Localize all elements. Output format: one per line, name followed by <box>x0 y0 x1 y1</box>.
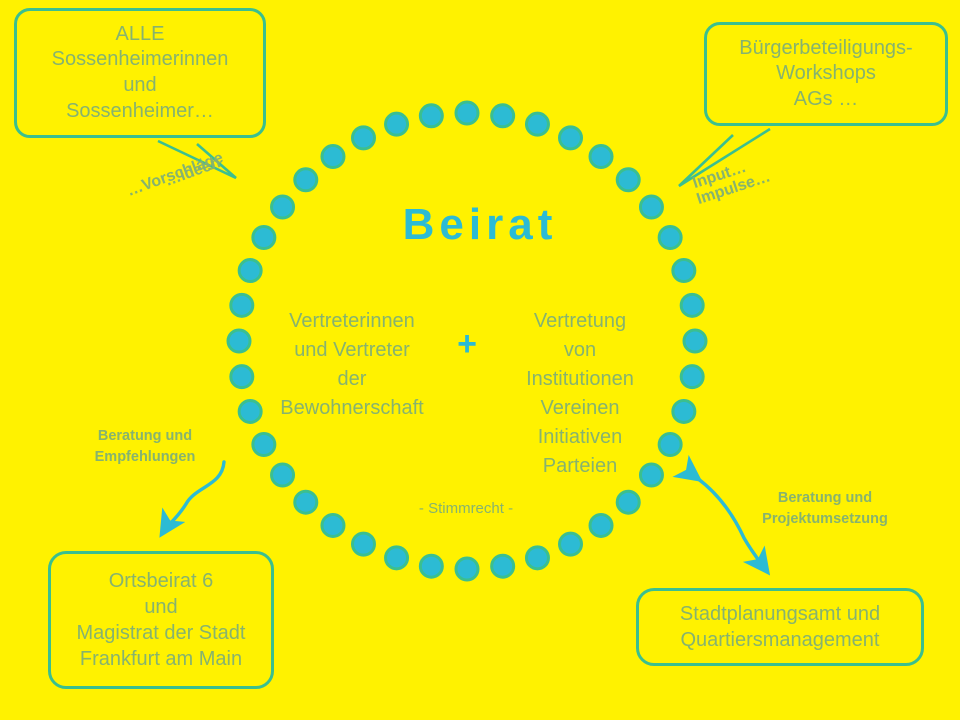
arrow-label-beratung-projekt: Beratung und Projektumsetzung <box>745 488 905 530</box>
ring-dot <box>386 113 408 135</box>
arrow-label-beratung-projekt-line-2: Projektumsetzung <box>745 509 905 530</box>
column-institutions-line-5: Initiativen <box>490 423 670 452</box>
ring-dot <box>617 491 639 513</box>
ring-dot <box>492 105 514 127</box>
bubble-residents-line-3: und <box>123 73 156 99</box>
ring-dot <box>295 491 317 513</box>
box-ortsbeirat-line-1: Ortsbeirat 6 <box>109 568 213 594</box>
arrow-label-beratung-empfehlungen-line-2: Empfehlungen <box>80 447 210 468</box>
ring-dot <box>420 105 442 127</box>
ring-dot <box>590 514 612 536</box>
ring-dot <box>352 533 374 555</box>
ring-dot <box>681 294 703 316</box>
ring-dot <box>681 366 703 388</box>
ring-dot <box>322 146 344 168</box>
box-ortsbeirat[interactable]: Ortsbeirat 6 und Magistrat der Stadt Fra… <box>48 551 274 689</box>
ring-dot <box>526 547 548 569</box>
ring-dot <box>420 555 442 577</box>
column-institutions-line-2: von <box>490 336 670 365</box>
column-institutions-line-1: Vertretung <box>490 307 670 336</box>
ring-dot <box>684 330 706 352</box>
column-representatives-line-4: Bewohnerschaft <box>262 394 442 423</box>
column-institutions-line-4: Vereinen <box>490 394 670 423</box>
column-institutions-line-3: Institutionen <box>490 365 670 394</box>
arrow-label-beratung-empfehlungen-line-1: Beratung und <box>80 426 210 447</box>
bubble-residents-line-2: Sossenheimerinnen <box>52 47 229 73</box>
ring-dot <box>239 260 261 282</box>
column-representatives: Vertreterinnen und Vertreter der Bewohne… <box>262 307 442 423</box>
ring-dot <box>617 169 639 191</box>
speech-bubble-residents[interactable]: ALLE Sossenheimerinnen und Sossenheimer… <box>14 8 266 138</box>
ring-dot <box>272 464 294 486</box>
ring-dot <box>253 434 275 456</box>
box-stadtplanung-line-2: Quartiersmanagement <box>681 627 880 653</box>
arrow-label-beratung-projekt-line-1: Beratung und <box>745 488 905 509</box>
ring-dot <box>456 558 478 580</box>
bubble-residents-line-4: Sossenheimer… <box>66 99 214 125</box>
arrow-beratung-empfehlungen <box>163 462 224 532</box>
box-ortsbeirat-line-2: und <box>144 594 177 620</box>
column-institutions: Vertretung von Institutionen Vereinen In… <box>490 307 670 481</box>
column-representatives-line-1: Vertreterinnen <box>262 307 442 336</box>
box-ortsbeirat-line-3: Magistrat der Stadt <box>77 620 246 646</box>
ring-dot <box>673 260 695 282</box>
diagram-canvas: ALLE Sossenheimerinnen und Sossenheimer…… <box>0 0 960 720</box>
plus-icon: + <box>443 327 491 361</box>
ring-dot <box>228 330 250 352</box>
bubble-workshops-line-2: Workshops <box>776 61 876 87</box>
box-stadtplanung-line-1: Stadtplanungsamt und <box>680 601 880 627</box>
ring-dot <box>231 366 253 388</box>
box-ortsbeirat-line-4: Frankfurt am Main <box>80 646 242 672</box>
page-title: Beirat <box>0 200 960 250</box>
ring-dot <box>239 400 261 422</box>
ring-dot <box>322 514 344 536</box>
ring-dot <box>526 113 548 135</box>
column-representatives-line-2: und Vertreter <box>262 336 442 365</box>
box-stadtplanung[interactable]: Stadtplanungsamt und Quartiersmanagement <box>636 588 924 666</box>
ring-dot <box>560 127 582 149</box>
column-representatives-line-3: der <box>262 365 442 394</box>
bubble-workshops-line-3: AGs … <box>794 87 858 113</box>
ring-dot <box>386 547 408 569</box>
ring-dot <box>560 533 582 555</box>
column-institutions-line-6: Parteien <box>490 452 670 481</box>
footnote-stimmrecht: - Stimmrecht - <box>366 500 566 517</box>
ring-dot <box>673 400 695 422</box>
ring-dot <box>231 294 253 316</box>
bubble-residents-line-1: ALLE <box>116 22 165 48</box>
bubble-workshops-line-1: Bürgerbeteiligungs- <box>739 36 912 62</box>
ring-dot <box>352 127 374 149</box>
ring-dot <box>456 102 478 124</box>
ring-dot <box>590 146 612 168</box>
arrow-label-beratung-empfehlungen: Beratung und Empfehlungen <box>80 426 210 468</box>
ring-dot <box>492 555 514 577</box>
speech-bubble-workshops[interactable]: Bürgerbeteiligungs- Workshops AGs … <box>704 22 948 126</box>
ring-dot <box>295 169 317 191</box>
